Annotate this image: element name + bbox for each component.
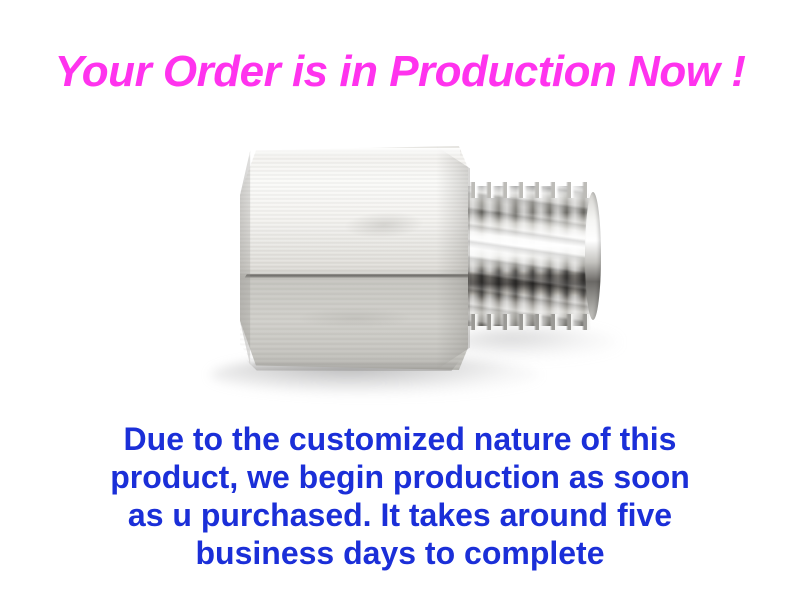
thread-barrel — [450, 186, 592, 326]
thread-drop-shadow — [450, 328, 620, 358]
hex-top-highlight — [246, 148, 460, 158]
hex-brushed-texture-top — [240, 146, 468, 276]
page-title: Your Order is in Production Now ! — [0, 46, 800, 98]
hex-bottom-edge — [246, 360, 460, 371]
hex-surface-scuff — [344, 210, 423, 240]
thread-teeth-top — [450, 182, 598, 198]
thread-teeth-bottom — [450, 314, 598, 330]
hex-surface-scuff — [300, 308, 410, 328]
notice-line-4: business days to complete — [0, 534, 800, 572]
product-photo — [0, 120, 800, 410]
threaded-male-end — [450, 182, 598, 330]
production-notice: Due to the customized nature of this pro… — [0, 420, 800, 572]
thread-end-cap — [585, 192, 601, 320]
product-photo-canvas — [150, 120, 670, 410]
hex-facet-seam — [240, 274, 468, 278]
thread-ridges-secondary — [450, 186, 592, 326]
notice-line-3: as u purchased. It takes around five — [0, 496, 800, 534]
hex-right-chamfer — [436, 146, 470, 370]
notice-line-1: Due to the customized nature of this — [0, 420, 800, 458]
notice-line-2: product, we begin production as soon — [0, 458, 800, 496]
promo-banner: Your Order is in Production Now ! — [0, 0, 800, 600]
